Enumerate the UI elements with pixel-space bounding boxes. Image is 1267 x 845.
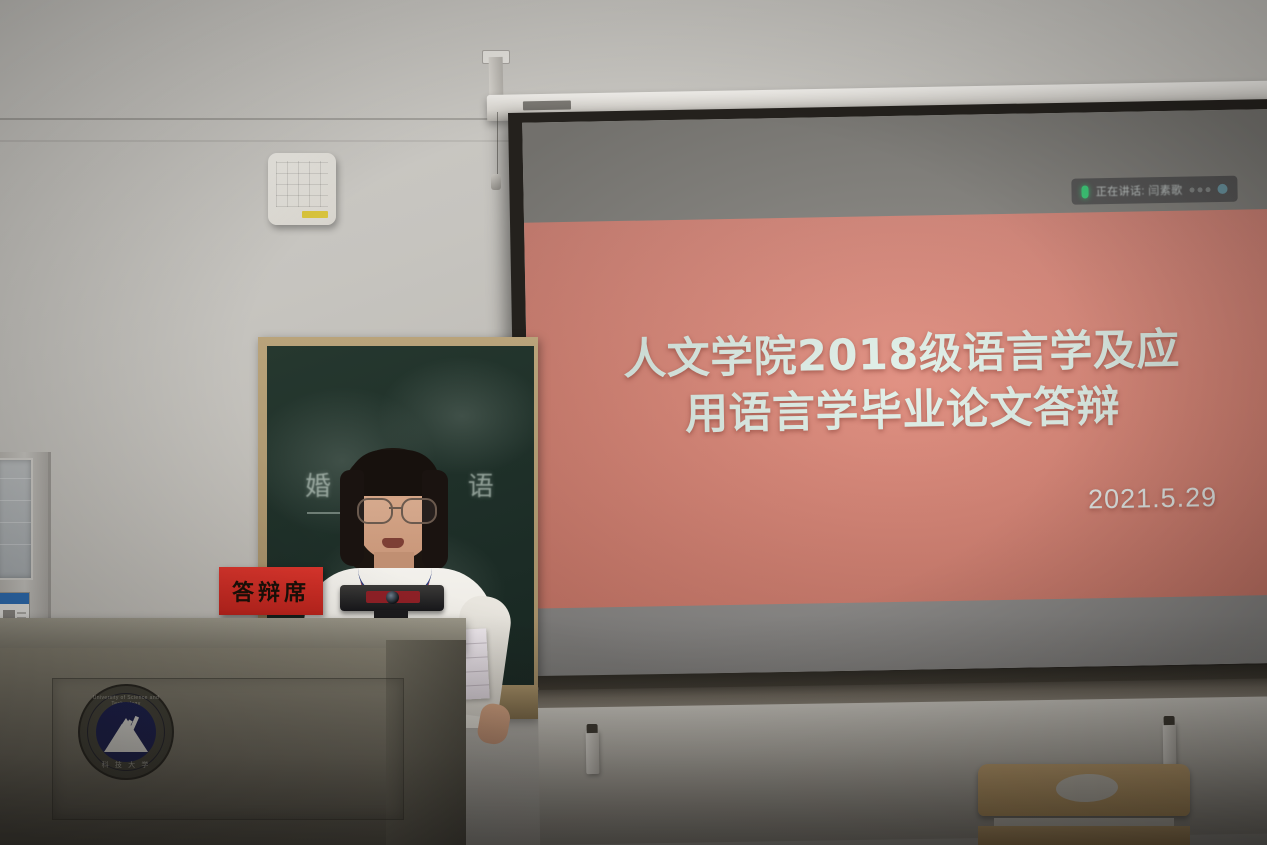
slide-date: 2021.5.29 — [1088, 482, 1218, 515]
notice-header-band — [0, 593, 29, 604]
microphone-icon — [1082, 185, 1089, 198]
classroom-scene: 正在讲话: 闫素歌 人文学院2018级语言学及应 用语言学毕业论文答辩 2021… — [0, 0, 1267, 845]
glasses — [356, 498, 436, 520]
meeting-status-pill[interactable]: 正在讲话: 闫素歌 — [1072, 176, 1238, 205]
conference-camera[interactable] — [340, 585, 444, 611]
floor-shadow — [0, 615, 1267, 845]
defense-seat-sign: 答辩席 — [219, 567, 323, 615]
status-dots-icon — [1189, 187, 1210, 192]
mouth — [382, 538, 404, 548]
speaker-grill — [276, 161, 328, 207]
wall-speaker-panel[interactable] — [268, 153, 336, 225]
projection-screen: 正在讲话: 闫素歌 人文学院2018级语言学及应 用语言学毕业论文答辩 2021… — [508, 99, 1267, 691]
speaker-yellow-label — [302, 211, 328, 218]
camera-lens-icon — [386, 591, 399, 604]
screen-cord-grip[interactable] — [491, 174, 501, 190]
defense-seat-sign-text: 答辩席 — [232, 575, 310, 607]
projected-slide: 正在讲话: 闫素歌 人文学院2018级语言学及应 用语言学毕业论文答辩 2021… — [522, 109, 1267, 677]
slide-title: 人文学院2018级语言学及应 用语言学毕业论文答辩 — [526, 321, 1267, 447]
housing-badge — [523, 100, 571, 110]
door-glass-pane — [0, 458, 33, 580]
connection-icon — [1217, 184, 1227, 194]
speaking-status-label: 正在讲话: 闫素歌 — [1096, 182, 1183, 200]
screen-pull-cord[interactable] — [497, 112, 498, 176]
projection-surface: 正在讲话: 闫素歌 人文学院2018级语言学及应 用语言学毕业论文答辩 2021… — [522, 109, 1267, 677]
